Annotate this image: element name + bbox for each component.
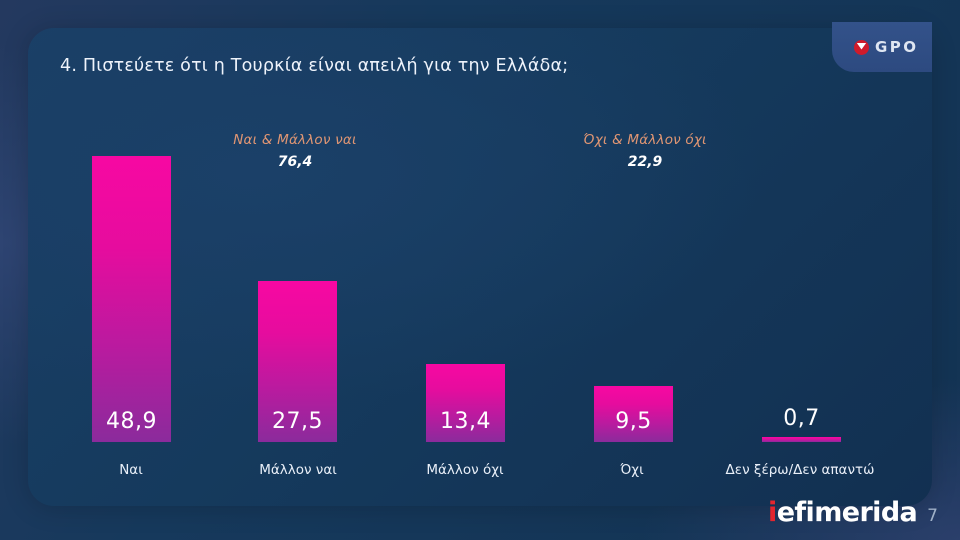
- bar-column[interactable]: 0,7: [762, 120, 841, 442]
- page-title: 4. Πιστεύετε ότι η Τουρκία είναι απειλή …: [60, 56, 568, 76]
- brand-rest: efimerida: [777, 497, 917, 528]
- bar-value-label: 27,5: [258, 409, 337, 434]
- category-axis: ΝαιΜάλλον ναιΜάλλον όχιΌχιΔεν ξέρω/Δεν α…: [60, 462, 900, 486]
- bar-column[interactable]: 27,5: [258, 120, 337, 442]
- category-label: Δεν ξέρω/Δεν απαντώ: [700, 462, 900, 478]
- publisher-logo: iefimerida 7: [768, 497, 938, 528]
- bar-column[interactable]: 48,9: [92, 120, 171, 442]
- brand-initial: i: [768, 497, 777, 528]
- bar-value-label: 0,7: [762, 406, 841, 431]
- gpo-logo-text: GPO: [875, 38, 919, 56]
- bar-value-label: 9,5: [594, 409, 673, 434]
- bar-column[interactable]: 9,5: [594, 120, 673, 442]
- brand-wordmark: iefimerida: [768, 497, 917, 528]
- page-number: 7: [927, 506, 938, 526]
- heart-chevron-icon: [854, 40, 869, 55]
- bar-value-label: 13,4: [426, 409, 505, 434]
- bar-column[interactable]: 13,4: [426, 120, 505, 442]
- bar[interactable]: [92, 156, 171, 442]
- bar[interactable]: [762, 437, 841, 442]
- slide-root: GPO 4. Πιστεύετε ότι η Τουρκία είναι απε…: [0, 0, 960, 540]
- gpo-logo: GPO: [854, 38, 919, 56]
- bar-chart-plot-area: 48,927,513,49,50,7: [60, 120, 900, 442]
- bar-value-label: 48,9: [92, 409, 171, 434]
